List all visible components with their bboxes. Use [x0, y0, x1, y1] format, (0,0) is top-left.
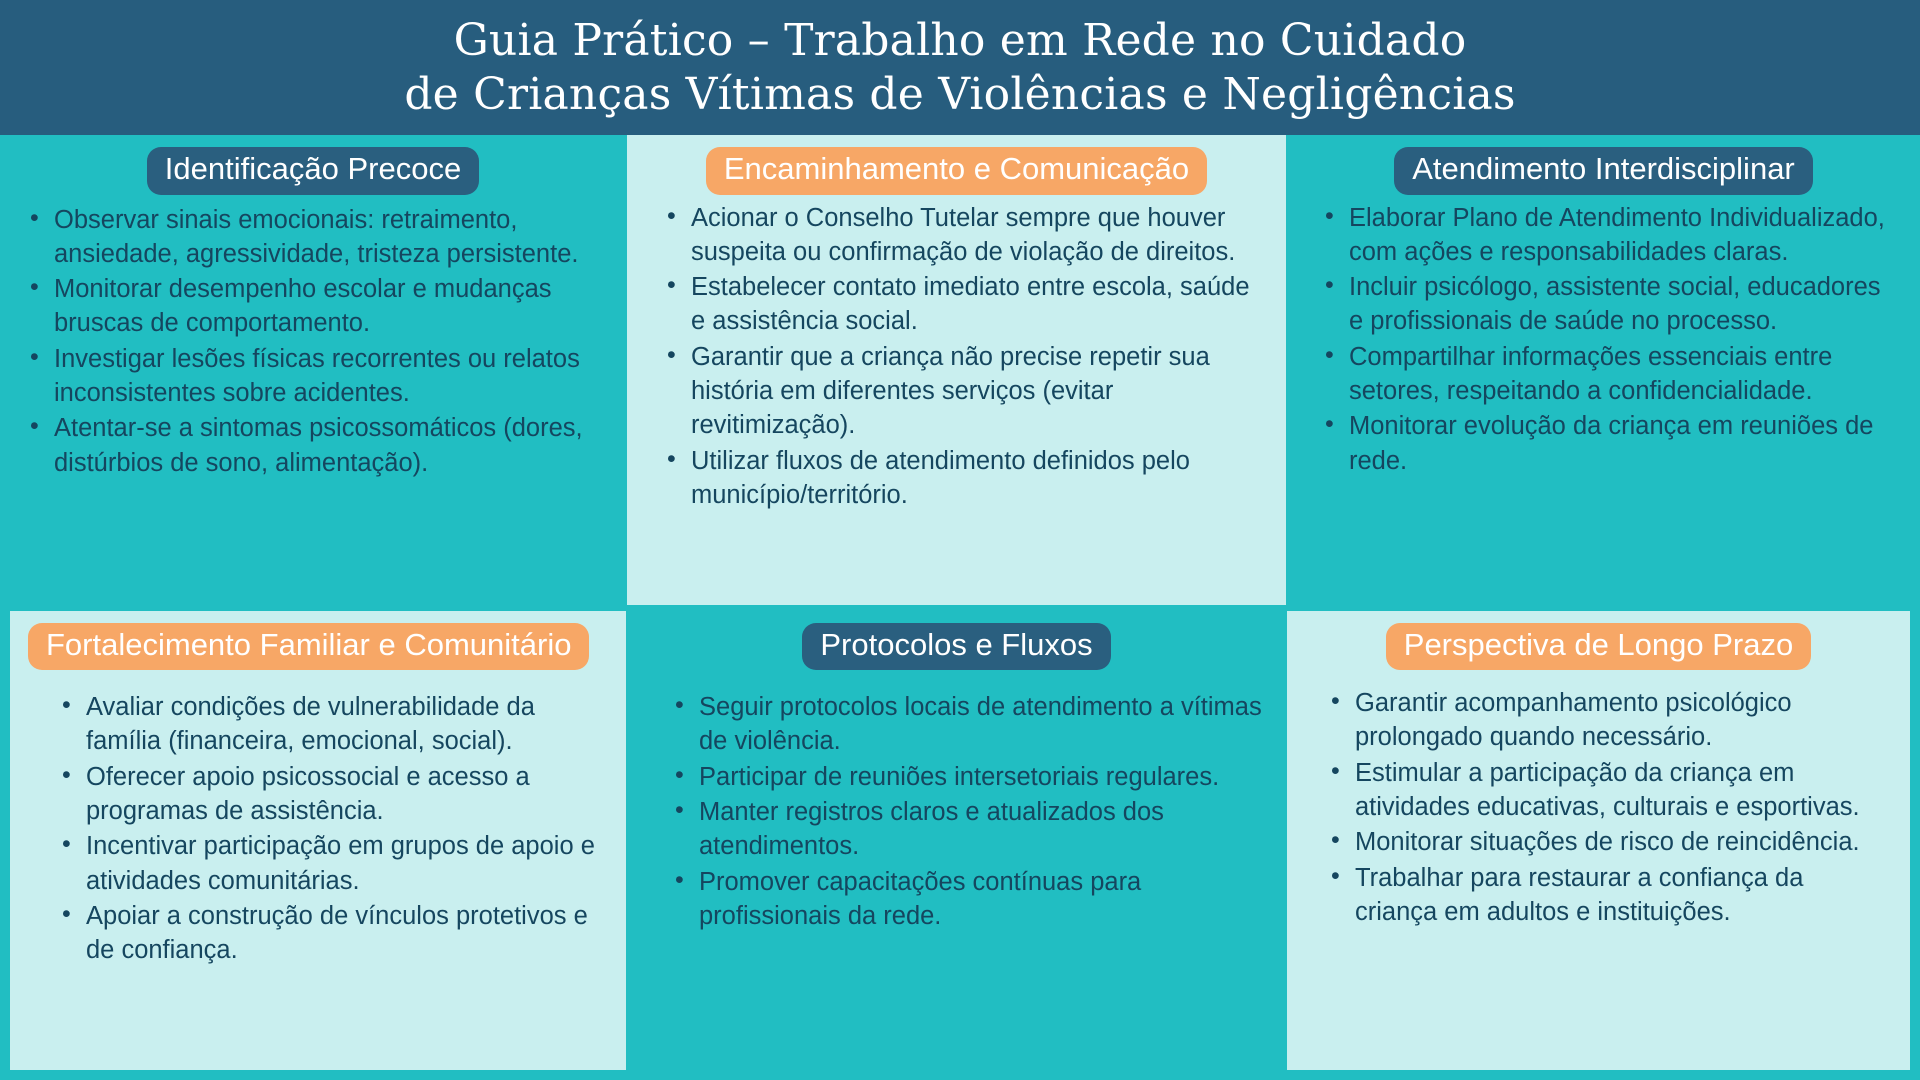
infographic-poster: Guia Prático – Trabalho em Rede no Cuida… [0, 0, 1920, 1080]
card-title-badge-2: Atendimento Interdisciplinar [1394, 147, 1813, 195]
list-item: Monitorar situações de risco de reincidê… [1351, 825, 1890, 859]
list-item: Avaliar condições de vulnerabilidade da … [82, 690, 606, 759]
card-fortalecimento-familiar-e-comunitario: Fortalecimento Familiar e Comunitário Av… [10, 611, 626, 1071]
card-title-badge-4: Protocolos e Fluxos [802, 623, 1110, 671]
card-badge-wrap-5: Perspectiva de Longo Prazo [1303, 623, 1894, 671]
card-badge-wrap-3: Fortalecimento Familiar e Comunitário [28, 623, 610, 671]
list-item: Utilizar fluxos de atendimento definidos… [687, 444, 1266, 513]
card-bullets-3: Avaliar condições de vulnerabilidade da … [26, 690, 610, 968]
card-perspectiva-de-longo-prazo: Perspectiva de Longo Prazo Garantir acom… [1287, 611, 1910, 1071]
card-title-badge-1: Encaminhamento e Comunicação [706, 147, 1207, 195]
card-protocolos-e-fluxos: Protocolos e Fluxos Seguir protocolos lo… [627, 611, 1286, 1071]
page-title: Guia Prático – Trabalho em Rede no Cuida… [404, 14, 1515, 121]
card-encaminhamento-e-comunicacao: Encaminhamento e Comunicação Acionar o C… [627, 135, 1286, 605]
list-item: Monitorar evolução da criança em reuniõe… [1345, 409, 1900, 478]
list-item: Monitorar desempenho escolar e mudanças … [50, 272, 606, 341]
card-bullets-5: Garantir acompanhamento psicológico prol… [1303, 686, 1894, 930]
list-item: Compartilhar informações essenciais entr… [1345, 340, 1900, 409]
list-item: Incluir psicólogo, assistente social, ed… [1345, 270, 1900, 339]
list-item: Trabalhar para restaurar a confiança da … [1351, 861, 1890, 930]
card-title-badge-0: Identificação Precoce [147, 147, 479, 195]
poster-header: Guia Prático – Trabalho em Rede no Cuida… [0, 0, 1920, 135]
list-item: Seguir protocolos locais de atendimento … [695, 690, 1266, 759]
card-bullets-4: Seguir protocolos locais de atendimento … [643, 690, 1270, 934]
card-identificacao-precoce: Identificação Precoce Observar sinais em… [0, 135, 626, 605]
list-item: Promover capacitações contínuas para pro… [695, 865, 1266, 934]
list-item: Garantir acompanhamento psicológico prol… [1351, 686, 1890, 755]
list-item: Elaborar Plano de Atendimento Individual… [1345, 201, 1900, 270]
list-item: Investigar lesões físicas recorrentes ou… [50, 342, 606, 411]
card-badge-wrap-2: Atendimento Interdisciplinar [1303, 147, 1904, 195]
list-item: Observar sinais emocionais: retraimento,… [50, 203, 606, 272]
list-item: Manter registros claros e atualizados do… [695, 795, 1266, 864]
cards-grid: Identificação Precoce Observar sinais em… [0, 135, 1920, 1080]
card-title-badge-5: Perspectiva de Longo Prazo [1386, 623, 1811, 671]
card-bullets-2: Elaborar Plano de Atendimento Individual… [1303, 201, 1904, 479]
list-item: Oferecer apoio psicossocial e acesso a p… [82, 760, 606, 829]
card-atendimento-interdisciplinar: Atendimento Interdisciplinar Elaborar Pl… [1287, 135, 1920, 605]
card-badge-wrap-0: Identificação Precoce [16, 147, 610, 195]
card-badge-wrap-1: Encaminhamento e Comunicação [643, 147, 1270, 195]
card-title-badge-3: Fortalecimento Familiar e Comunitário [28, 623, 589, 671]
card-bullets-1: Acionar o Conselho Tutelar sempre que ho… [643, 201, 1270, 514]
list-item: Estimular a participação da criança em a… [1351, 756, 1890, 825]
list-item: Atentar-se a sintomas psicossomáticos (d… [50, 411, 606, 480]
card-badge-wrap-4: Protocolos e Fluxos [643, 623, 1270, 671]
list-item: Acionar o Conselho Tutelar sempre que ho… [687, 201, 1266, 270]
list-item: Incentivar participação em grupos de apo… [82, 829, 606, 898]
list-item: Garantir que a criança não precise repet… [687, 340, 1266, 443]
list-item: Estabelecer contato imediato entre escol… [687, 270, 1266, 339]
list-item: Apoiar a construção de vínculos protetiv… [82, 899, 606, 968]
list-item: Participar de reuniões intersetoriais re… [695, 760, 1266, 794]
card-bullets-0: Observar sinais emocionais: retraimento,… [16, 203, 610, 481]
